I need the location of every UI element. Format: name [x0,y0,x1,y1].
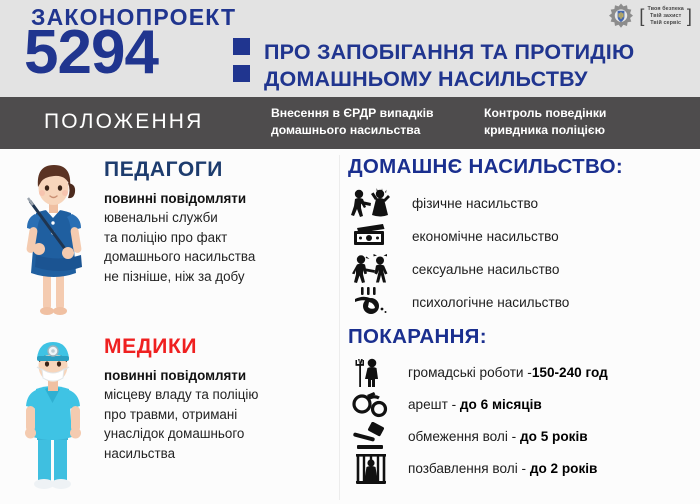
punishment-row-restriction: обмеження волі - до 5 років [348,421,700,453]
physical-violence-icon [348,187,394,220]
violence-section: ДОМАШНЄ НАСИЛЬСТВО: [348,157,700,319]
violence-row-physical: фізичне насильство [348,187,700,220]
punishments-list: громадські роботи -150-240 год [348,357,700,485]
punishment-row-community-works: громадські роботи -150-240 год [348,357,700,389]
band-col1-line2: домашнього насильства [271,122,471,139]
violence-list: фізичне насильство [348,187,700,319]
motto-line-1: Твоя безпека [648,6,684,13]
teacher-illustration [6,157,98,317]
provisions-band: ПОЛОЖЕННЯ Внесення в ЄРДР випадків домаш… [0,97,700,149]
police-motto: [ Твоя безпека Твій захист Твій сервіс ] [639,6,692,27]
punishment-value-community-works: 150-240 год [532,365,608,380]
police-emblem: [ Твоя безпека Твій захист Твій сервіс ] [608,3,692,29]
band-col2-line2: кривдника поліцією [484,122,684,139]
punishment-label-community-works: громадські роботи -150-240 год [394,364,608,381]
column-divider [339,155,340,500]
violence-label-psychological: психологічне насильство [394,294,569,311]
punishment-value-restriction: до 5 років [520,429,588,444]
band-col2-line1: Контроль поведінки [484,105,684,122]
punishment-value-arrest: до 6 місяців [460,397,542,412]
band-title: ПОЛОЖЕННЯ [44,110,204,134]
bill-title-line2: ДОМАШНЬОМУ НАСИЛЬСТВУ [264,66,689,93]
teachers-heading: ПЕДАГОГИ [104,159,336,180]
header: ЗАКОНОПРОЕКТ 5294 ПРО ЗАПОБІГАННЯ ТА ПРО… [0,0,700,97]
band-column-erdr: Внесення в ЄРДР випадків домашнього наси… [271,105,471,139]
violence-heading: ДОМАШНЄ НАСИЛЬСТВО: [348,157,700,178]
content: ПЕДАГОГИ повинні повідомляти ювенальні с… [0,149,700,504]
motto-line-3: Твій сервіс [648,20,684,27]
teachers-line-2: та поліцію про факт [104,228,336,247]
medics-line-4: насильства [104,444,336,463]
violence-row-psychological: психологічне насильство [348,286,700,319]
teachers-text: ПЕДАГОГИ повинні повідомляти ювенальні с… [104,159,336,286]
teachers-body: повинні повідомляти ювенальні служби та … [104,189,336,286]
punishment-text-imprisonment: позбавлення волі - [408,461,530,476]
money-banknotes-icon [348,220,394,253]
punishment-label-arrest: арешт - до 6 місяців [394,396,542,413]
medics-lead: повинні повідомляти [104,368,246,383]
band-column-control: Контроль поведінки кривдника поліцією [484,105,684,139]
teachers-line-1: ювенальні служби [104,208,336,227]
punishments-heading: ПОКАРАННЯ: [348,327,700,348]
violence-row-sexual: сексуальне насильство [348,253,700,286]
medics-heading: МЕДИКИ [104,336,336,357]
punishment-value-imprisonment: до 2 років [530,461,598,476]
psychological-violence-icon [348,286,394,319]
police-star-icon [608,3,634,29]
band-col1-line1: Внесення в ЄРДР випадків [271,105,471,122]
medics-block: МЕДИКИ повинні повідомляти місцеву владу… [0,334,339,502]
punishment-label-imprisonment: позбавлення волі - до 2 років [394,460,597,477]
prison-cell-icon [348,452,394,485]
medics-line-3: унаслідок домашнього [104,424,336,443]
teachers-line-4: не пізніше, ніж за добу [104,267,336,286]
violence-label-sexual: сексуальне насильство [394,261,559,278]
punishment-row-arrest: арешт - до 6 місяців [348,389,700,421]
left-column: ПЕДАГОГИ повинні повідомляти ювенальні с… [0,149,339,504]
colon-glyph [233,38,250,82]
bracket-left: [ [639,7,644,25]
doctor-illustration [6,334,98,494]
bracket-right: ] [687,7,692,25]
infographic-page: ЗАКОНОПРОЕКТ 5294 ПРО ЗАПОБІГАННЯ ТА ПРО… [0,0,700,504]
violence-row-economic: економічне насильство [348,220,700,253]
punishment-label-restriction: обмеження волі - до 5 років [394,428,588,445]
medics-line-1: місцеву владу та поліцію [104,385,336,404]
handcuffs-icon [348,388,394,421]
sexual-violence-icon [348,253,394,286]
community-works-icon [348,356,394,389]
bill-number: 5294 [24,22,158,84]
medics-body: повинні повідомляти місцеву владу та пол… [104,366,336,463]
medics-text: МЕДИКИ повинні повідомляти місцеву владу… [104,336,336,463]
punishment-text-restriction: обмеження волі - [408,429,520,444]
violence-label-economic: економічне насильство [394,228,559,245]
teachers-block: ПЕДАГОГИ повинні повідомляти ювенальні с… [0,157,339,322]
teachers-lead: повинні повідомляти [104,191,246,206]
punishment-text-arrest: арешт - [408,397,460,412]
punishments-section: ПОКАРАННЯ: [348,327,700,485]
violence-label-physical: фізичне насильство [394,195,538,212]
punishment-text-community-works: громадські роботи - [408,365,532,380]
gavel-icon [348,420,394,453]
bill-title-line1: ПРО ЗАПОБІГАННЯ ТА ПРОТИДІЮ [264,39,689,66]
right-column: ДОМАШНЄ НАСИЛЬСТВО: [348,149,700,504]
bill-title: ПРО ЗАПОБІГАННЯ ТА ПРОТИДІЮ ДОМАШНЬОМУ Н… [264,39,689,93]
medics-line-2: про травми, отримані [104,405,336,424]
motto-line-2: Твій захист [648,13,684,20]
punishment-row-imprisonment: позбавлення волі - до 2 років [348,453,700,485]
teachers-line-3: домашнього насильства [104,247,336,266]
